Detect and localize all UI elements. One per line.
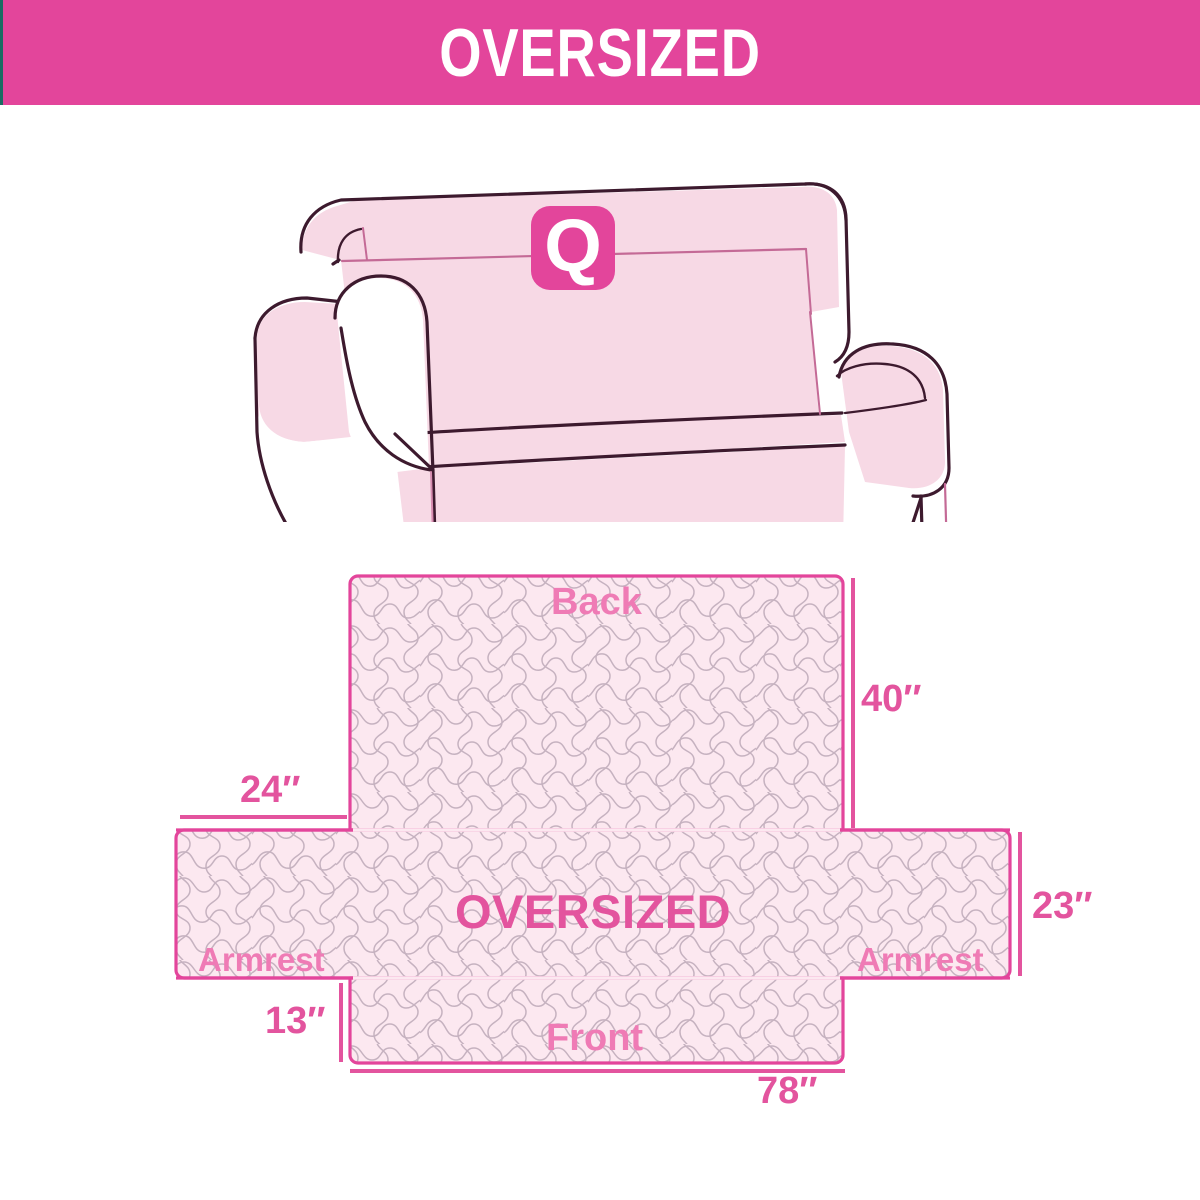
header-banner: OVERSIZED bbox=[0, 0, 1200, 105]
banner-left-edge-strip bbox=[0, 0, 3, 105]
dimension-label-total-width: 78″ bbox=[757, 1070, 817, 1113]
dimension-label-armrest-height: 23″ bbox=[1032, 885, 1092, 928]
sofa-illustration bbox=[245, 132, 975, 522]
dimension-label-front-height: 13″ bbox=[265, 1000, 325, 1043]
panel-label-back: Back bbox=[551, 581, 642, 624]
page-title: OVERSIZED bbox=[120, 0, 1080, 105]
dimension-label-back-height: 40″ bbox=[861, 678, 921, 721]
logo-letter: Q bbox=[544, 209, 602, 283]
page-root: OVERSIZED bbox=[0, 0, 1200, 1200]
panel-label-armrest-right: Armrest bbox=[857, 941, 984, 979]
panel-label-armrest-left: Armrest bbox=[198, 941, 325, 979]
brand-logo-badge: Q bbox=[531, 206, 615, 290]
dimension-label-armrest-width: 24″ bbox=[240, 769, 300, 812]
panel-label-front: Front bbox=[546, 1017, 643, 1060]
diagram-center-label: OVERSIZED bbox=[455, 884, 731, 939]
